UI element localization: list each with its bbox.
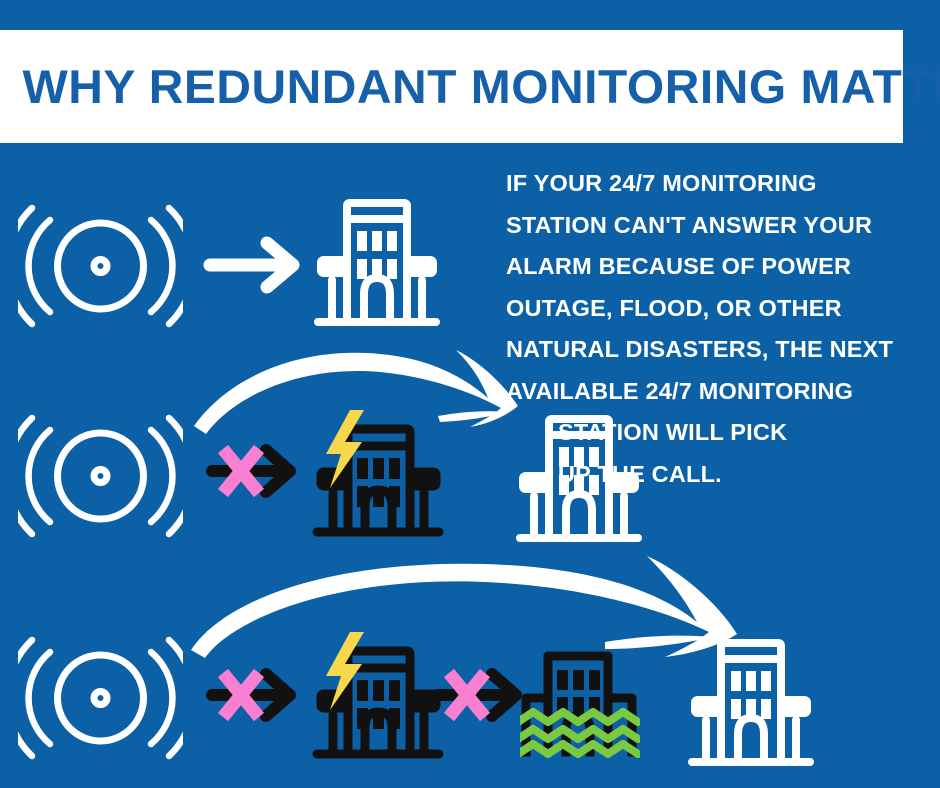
row-1-alarm-siren-icon — [18, 196, 183, 336]
body-line-5: NATURAL DISASTERS, THE NEXT — [506, 329, 918, 371]
body-line-3: ALARM BECAUSE OF POWER — [506, 246, 918, 288]
infographic-poster: WHY REDUNDANT MONITORING MATTERS IF YOUR… — [0, 0, 940, 788]
row-2-arrow-blocked-icon — [206, 440, 306, 502]
page-title: WHY REDUNDANT MONITORING MATTERS — [0, 63, 940, 110]
flood-water-waves — [520, 712, 638, 754]
title-banner: WHY REDUNDANT MONITORING MATTERS — [0, 30, 903, 143]
body-line-1: IF YOUR 24/7 MONITORING — [506, 163, 918, 205]
body-line-6: AVAILABLE 24/7 MONITORING — [506, 371, 918, 413]
row-2-alarm-siren-icon — [18, 406, 183, 546]
row-3-arrow-blocked-icon-1 — [206, 664, 306, 726]
row-1-monitoring-station-building-icon — [314, 198, 440, 326]
row-1-arrow-right-icon — [203, 235, 308, 295]
row-3-reroute-curved-arrow-icon — [185, 542, 745, 662]
body-line-4: OUTAGE, FLOOD, OR OTHER — [506, 288, 918, 330]
row-3-arrow-blocked-icon-2 — [432, 664, 532, 726]
row-3-alarm-siren-icon — [18, 628, 183, 768]
row-2-monitoring-station-building-icon — [516, 414, 642, 542]
body-line-2: STATION CAN'T ANSWER YOUR — [506, 205, 918, 247]
row-3-monitoring-station-building-icon — [688, 638, 814, 766]
row-2-reroute-curved-arrow-icon — [188, 330, 538, 438]
